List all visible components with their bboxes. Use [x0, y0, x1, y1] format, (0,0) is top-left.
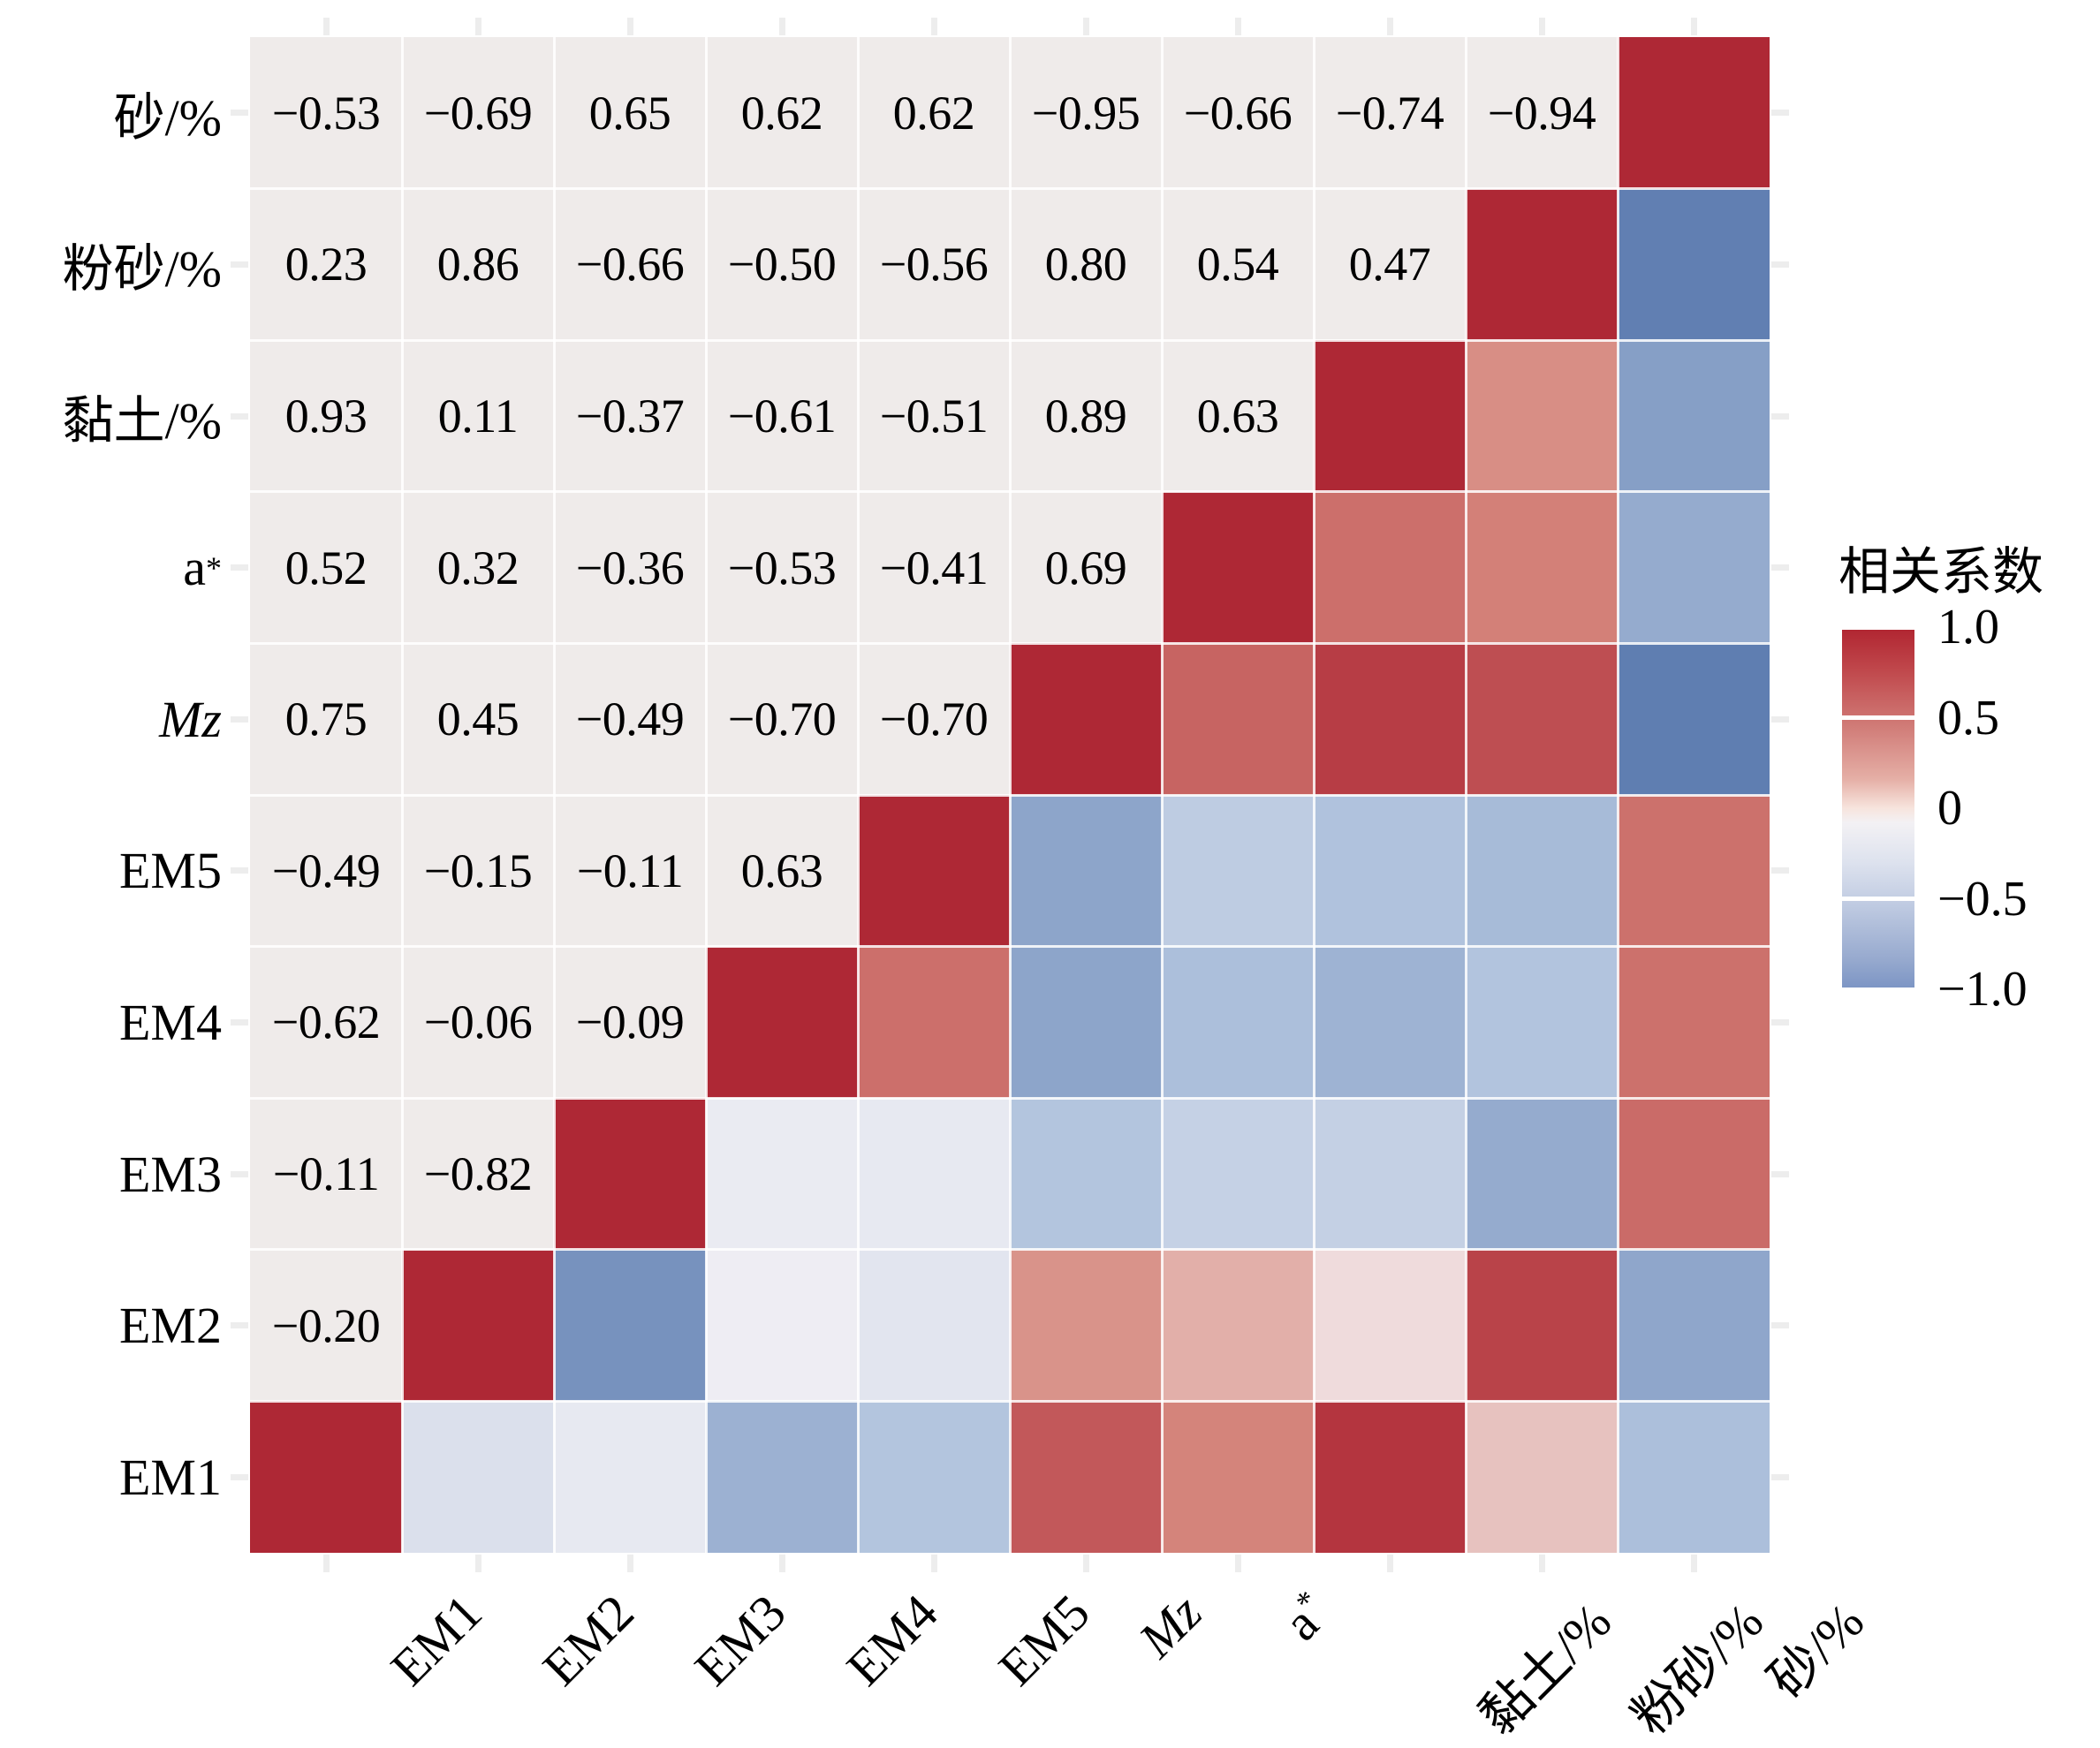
grid-line-vertical: [1617, 37, 1619, 1553]
x-axis-tick: [931, 1555, 937, 1572]
grid-line-vertical: [1161, 37, 1164, 1553]
heatmap-cell-value: 0.62: [706, 37, 858, 189]
heatmap-cell-value: 0.65: [554, 37, 706, 189]
heatmap-cell-value: 0.86: [402, 189, 554, 341]
x-axis-label: EM4: [835, 1583, 949, 1697]
heatmap-cell: [1162, 947, 1314, 1099]
heatmap-cell-value: −0.61: [706, 340, 858, 492]
y-axis-tick-right: [1771, 110, 1789, 116]
heatmap-cell-value: −0.36: [554, 492, 706, 644]
heatmap-cell: [858, 1250, 1010, 1402]
heatmap-cell-value: −0.74: [1314, 37, 1466, 189]
legend-title: 相关系数: [1838, 530, 2095, 604]
legend-body: 1.00.50−0.5−1.0: [1838, 620, 2095, 991]
y-axis-tick-right: [1771, 413, 1789, 420]
heatmap-cell: [1466, 340, 1618, 492]
heatmap-cell-value: −0.11: [554, 795, 706, 947]
heatmap-cell: [1010, 947, 1162, 1099]
heatmap-cell: [1010, 1401, 1162, 1553]
heatmap-cell: [1466, 795, 1618, 947]
heatmap-cell-value: −0.70: [706, 643, 858, 795]
y-axis-label: a*: [10, 533, 222, 603]
heatmap-cell: [1010, 1098, 1162, 1250]
y-axis-tick: [231, 1474, 248, 1480]
heatmap-cell-value: −0.51: [858, 340, 1010, 492]
x-axis-tick-top: [1083, 18, 1089, 35]
x-axis-tick-top: [627, 18, 633, 35]
heatmap-cell-value: −0.66: [1162, 37, 1314, 189]
heatmap-cell-value: −0.06: [402, 947, 554, 1099]
heatmap-cell: [1466, 1401, 1618, 1553]
heatmap-cell-value: 0.63: [1162, 340, 1314, 492]
heatmap-cell-value: −0.56: [858, 189, 1010, 341]
legend-tick-label: −1.0: [1937, 961, 2028, 1018]
heatmap-cell: [1010, 795, 1162, 947]
y-axis-label: 粉砂/%: [10, 229, 222, 299]
heatmap-cell-value: 0.93: [250, 340, 402, 492]
heatmap-cell-value: −0.69: [402, 37, 554, 189]
y-axis-tick-right: [1771, 1474, 1789, 1480]
y-axis-label: EM2: [10, 1290, 222, 1361]
heatmap-cell: [1162, 492, 1314, 644]
heatmap-cell: [1162, 1098, 1314, 1250]
heatmap-cell-value: 0.69: [1010, 492, 1162, 644]
x-axis-tick-top: [779, 18, 785, 35]
y-axis-label: EM4: [10, 987, 222, 1057]
y-axis-tick-right: [1771, 1322, 1789, 1328]
y-axis-tick-right: [1771, 1171, 1789, 1177]
heatmap-cell: [1010, 1250, 1162, 1402]
heatmap-cell: [858, 795, 1010, 947]
heatmap-cell: [1618, 1098, 1770, 1250]
heatmap-cell: [1618, 643, 1770, 795]
x-axis-tick: [323, 1555, 330, 1572]
heatmap-cell: [858, 947, 1010, 1099]
y-axis-label: EM1: [10, 1442, 222, 1512]
heatmap-cell: [1162, 795, 1314, 947]
legend: 相关系数 1.00.50−0.5−1.0: [1838, 530, 2095, 991]
heatmap-cell: [1466, 1250, 1618, 1402]
y-axis-tick: [231, 261, 248, 268]
x-axis-tick: [1235, 1555, 1241, 1572]
heatmap-cell: [554, 1098, 706, 1250]
heatmap-cell: [402, 1401, 554, 1553]
heatmap-cell-value: 0.52: [250, 492, 402, 644]
heatmap-cell: [250, 1401, 402, 1553]
heatmap-cell-value: −0.09: [554, 947, 706, 1099]
heatmap-cell: [1314, 643, 1466, 795]
x-axis-tick-top: [323, 18, 330, 35]
x-axis-label: 粉砂/%: [1611, 1583, 1777, 1748]
heatmap-cell: [858, 1098, 1010, 1250]
grid-line-horizontal: [250, 794, 1770, 797]
x-axis-label: EM1: [379, 1583, 493, 1697]
x-axis-label: EM3: [683, 1583, 797, 1697]
x-axis-label: EM2: [531, 1583, 645, 1697]
x-axis-tick-top: [1387, 18, 1393, 35]
x-axis-tick-top: [931, 18, 937, 35]
heatmap-cell-value: −0.66: [554, 189, 706, 341]
y-axis-tick: [231, 1019, 248, 1025]
y-axis-tick: [231, 564, 248, 571]
heatmap-cell: [1162, 643, 1314, 795]
heatmap-cell-value: 0.32: [402, 492, 554, 644]
heatmap-cell: [1466, 492, 1618, 644]
x-axis-tick-top: [1691, 18, 1697, 35]
heatmap-cell: [1314, 1098, 1466, 1250]
x-axis-tick-top: [1539, 18, 1545, 35]
heatmap-cell: [858, 1401, 1010, 1553]
grid-line-horizontal: [250, 1400, 1770, 1403]
heatmap-cell: [1618, 189, 1770, 341]
heatmap-cell: [1314, 340, 1466, 492]
heatmap-cell: [1314, 492, 1466, 644]
heatmap-cell-value: −0.82: [402, 1098, 554, 1250]
grid-line-vertical: [1313, 37, 1315, 1553]
grid-line-horizontal: [250, 945, 1770, 948]
heatmap-cell: [1162, 1401, 1314, 1553]
heatmap-cell-value: 0.80: [1010, 189, 1162, 341]
heatmap-cell: [1618, 340, 1770, 492]
x-axis-tick-top: [1235, 18, 1241, 35]
heatmap-cell-value: −0.15: [402, 795, 554, 947]
legend-tick-label: −0.5: [1937, 871, 2028, 927]
heatmap-cell-value: 0.45: [402, 643, 554, 795]
heatmap-cell-value: −0.49: [250, 795, 402, 947]
heatmap-cell: [1010, 643, 1162, 795]
heatmap-cell: [706, 1098, 858, 1250]
y-axis-tick: [231, 867, 248, 874]
y-axis-tick: [231, 1322, 248, 1328]
heatmap-cell-value: 0.47: [1314, 189, 1466, 341]
heatmap-cell: [1466, 189, 1618, 341]
y-axis-tick-right: [1771, 564, 1789, 571]
heatmap-cell-value: −0.20: [250, 1250, 402, 1402]
x-axis-tick: [627, 1555, 633, 1572]
heatmap-cell: [1618, 1401, 1770, 1553]
y-axis-tick-right: [1771, 1019, 1789, 1025]
legend-tick-label: 1.0: [1937, 599, 1999, 655]
x-axis-tick: [1691, 1555, 1697, 1572]
heatmap-cell: [706, 947, 858, 1099]
heatmap-cell: [1466, 643, 1618, 795]
heatmap-cell: [554, 1250, 706, 1402]
heatmap-cell-value: −0.70: [858, 643, 1010, 795]
x-axis-tick-top: [475, 18, 481, 35]
y-axis-label: 黏土/%: [10, 381, 222, 451]
x-axis-tick: [1387, 1555, 1393, 1572]
heatmap-cell: [1314, 1250, 1466, 1402]
y-axis-tick: [231, 413, 248, 420]
heatmap-cell: [1314, 947, 1466, 1099]
heatmap-cell: [706, 1250, 858, 1402]
heatmap-cell: [1618, 1250, 1770, 1402]
legend-tick-label: 0: [1937, 780, 1962, 836]
heatmap-cell-value: 0.75: [250, 643, 402, 795]
heatmap-cell-value: −0.49: [554, 643, 706, 795]
heatmap-cell: [554, 1401, 706, 1553]
correlation-heatmap: −0.53−0.690.650.620.62−0.95−0.66−0.74−0.…: [0, 0, 2100, 1746]
heatmap-cell-value: −0.53: [706, 492, 858, 644]
heatmap-cell: [1162, 1250, 1314, 1402]
heatmap-cell-value: −0.37: [554, 340, 706, 492]
heatmap-cell-value: 0.62: [858, 37, 1010, 189]
heatmap-cell-value: −0.94: [1466, 37, 1618, 189]
y-axis-label: Mz: [10, 684, 222, 754]
x-axis-label: 砂/%: [1748, 1583, 1877, 1712]
x-axis-tick: [475, 1555, 481, 1572]
heatmap-cell-value: 0.54: [1162, 189, 1314, 341]
heatmap-cell-value: −0.50: [706, 189, 858, 341]
heatmap-cell-value: −0.41: [858, 492, 1010, 644]
legend-colorbar: [1842, 627, 1914, 989]
heatmap-cell-value: 0.23: [250, 189, 402, 341]
y-axis-tick: [231, 716, 248, 723]
y-axis-tick-right: [1771, 261, 1789, 268]
heatmap-cell-value: 0.89: [1010, 340, 1162, 492]
x-axis-tick: [1083, 1555, 1089, 1572]
legend-tick-line: [1842, 715, 1914, 720]
heatmap-cell: [402, 1250, 554, 1402]
x-axis-label: a*: [1272, 1583, 1341, 1652]
y-axis-tick: [231, 110, 248, 116]
y-axis-tick-right: [1771, 716, 1789, 723]
heatmap-cell-value: −0.62: [250, 947, 402, 1099]
heatmap-cell-value: −0.11: [250, 1098, 402, 1250]
heatmap-cell-value: −0.53: [250, 37, 402, 189]
heatmap-cell: [1314, 1401, 1466, 1553]
heatmap-cell-value: 0.11: [402, 340, 554, 492]
heatmap-cell-value: −0.95: [1010, 37, 1162, 189]
heatmap-cell: [1618, 37, 1770, 189]
y-axis-label: EM3: [10, 1139, 222, 1209]
x-axis-label: 黏土/%: [1459, 1583, 1625, 1748]
heatmap-cell: [1466, 1098, 1618, 1250]
legend-tick-line: [1842, 897, 1914, 901]
heatmap-cell: [1618, 795, 1770, 947]
heatmap-cell: [1314, 795, 1466, 947]
x-axis-tick: [1539, 1555, 1545, 1572]
x-axis-label: Mz: [1127, 1583, 1214, 1669]
heatmap-cell: [706, 1401, 858, 1553]
y-axis-tick: [231, 1171, 248, 1177]
y-axis-label: EM5: [10, 836, 222, 906]
x-axis-tick: [779, 1555, 785, 1572]
legend-tick-line: [1842, 988, 1914, 992]
grid-line-vertical: [1465, 37, 1467, 1553]
heatmap-cell: [1618, 947, 1770, 1099]
legend-tick-label: 0.5: [1937, 690, 1999, 746]
grid-line-horizontal: [250, 1248, 1770, 1251]
heatmap-cell: [1466, 947, 1618, 1099]
heatmap-cell-value: 0.63: [706, 795, 858, 947]
legend-tick-line: [1842, 625, 1914, 630]
y-axis-tick-right: [1771, 867, 1789, 874]
x-axis-label: EM5: [987, 1583, 1101, 1697]
y-axis-label: 砂/%: [10, 78, 222, 148]
heatmap-cell: [1618, 492, 1770, 644]
grid-line-horizontal: [250, 1097, 1770, 1100]
